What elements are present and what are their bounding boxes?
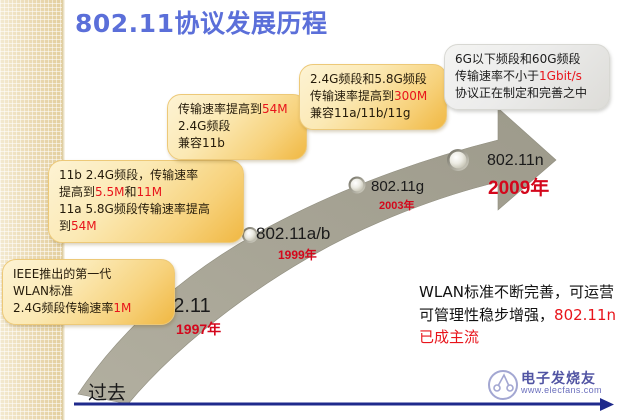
watermark-url: www.elecfans.com xyxy=(521,385,602,395)
watermark-logo-icon xyxy=(487,366,521,406)
time-axis xyxy=(0,0,623,420)
slide-canvas: 802.11协议发展历程 xyxy=(0,0,623,420)
watermark: 电子发烧友 www.elecfans.com xyxy=(487,366,619,410)
